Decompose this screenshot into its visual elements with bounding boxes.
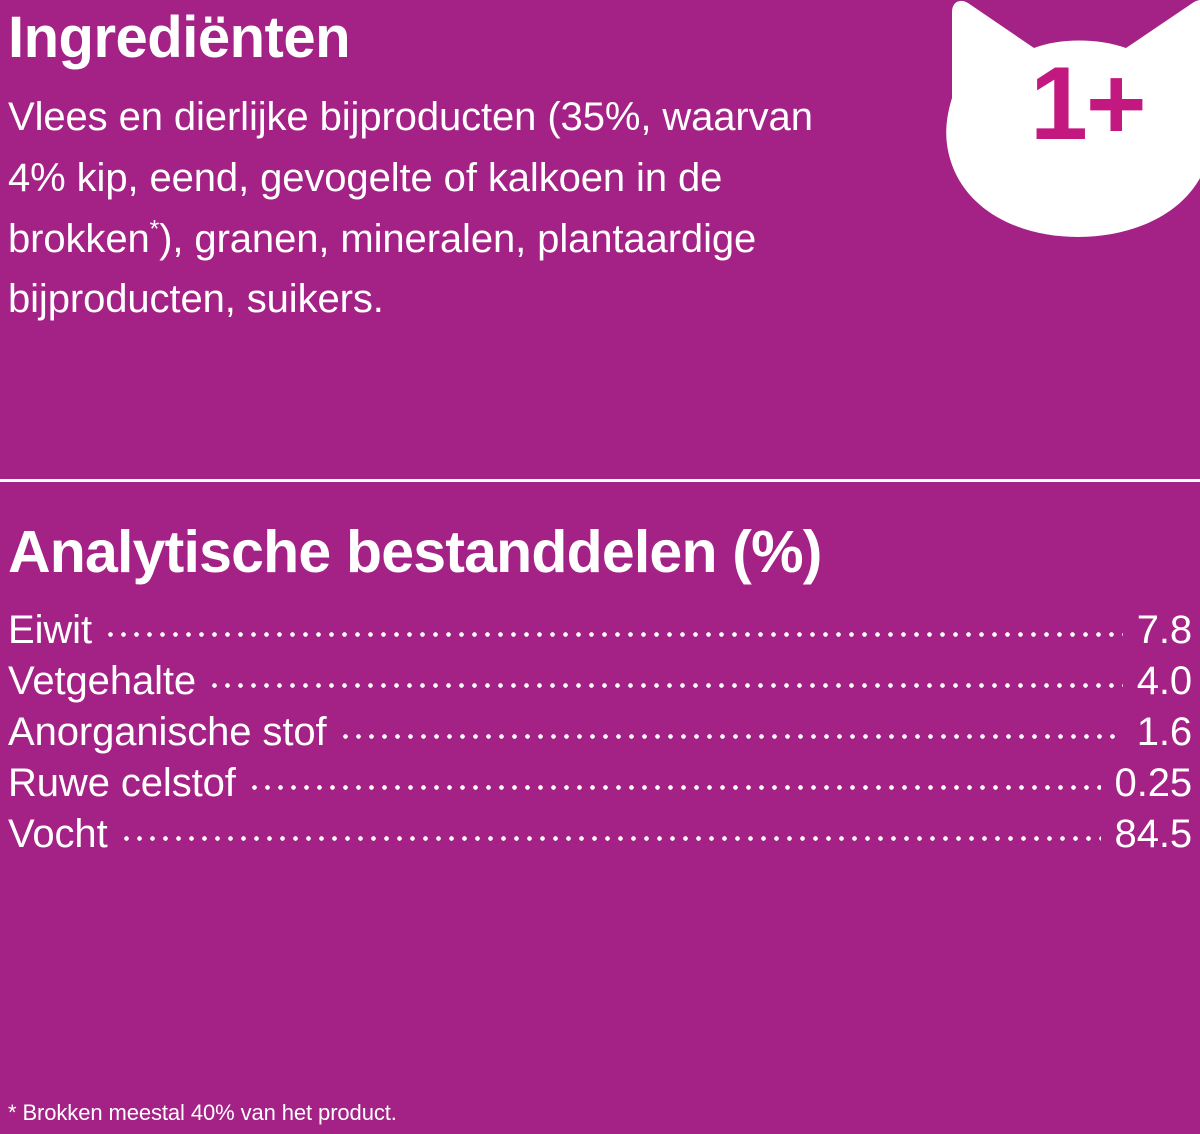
constituent-label: Anorganische stof: [8, 712, 335, 752]
constituent-value: 0.25: [1105, 763, 1192, 803]
table-row: Eiwit 7.8: [8, 603, 1192, 654]
ingredients-text: Vlees en dierlijke bijproducten (35%, wa…: [8, 87, 868, 330]
product-label-panel: 1+ Ingrediënten Vlees en dierlijke bijpr…: [0, 0, 1200, 1134]
constituent-label: Eiwit: [8, 610, 100, 650]
dot-leader: [104, 603, 1123, 643]
constituent-value: 1.6: [1127, 712, 1192, 752]
constituent-value: 7.8: [1127, 610, 1192, 650]
cat-head-icon: [922, 0, 1200, 240]
table-row: Vocht 84.5: [8, 807, 1192, 858]
ingredients-footnote-marker: *: [150, 216, 160, 243]
ingredients-section: Ingrediënten Vlees en dierlijke bijprodu…: [0, 0, 900, 330]
dot-leader: [120, 807, 1101, 847]
constituent-label: Vocht: [8, 814, 116, 854]
ingredients-title: Ingrediënten: [8, 6, 900, 71]
constituent-value: 4.0: [1127, 661, 1192, 701]
constituent-label: Vetgehalte: [8, 661, 204, 701]
analytical-constituents-section: Analytische bestanddelen (%) Eiwit 7.8 V…: [8, 520, 1192, 858]
cat-age-label: 1+: [1030, 52, 1145, 156]
constituent-value: 84.5: [1105, 814, 1192, 854]
dot-leader: [208, 654, 1123, 694]
cat-age-badge: 1+: [922, 0, 1200, 240]
table-row: Anorganische stof 1.6: [8, 705, 1192, 756]
table-row: Ruwe celstof 0.25: [8, 756, 1192, 807]
footnote-text: * Brokken meestal 40% van het product.: [8, 1099, 397, 1127]
dot-leader: [248, 756, 1101, 796]
analytical-constituents-title: Analytische bestanddelen (%): [8, 520, 1192, 585]
dot-leader: [339, 705, 1123, 745]
table-row: Vetgehalte 4.0: [8, 654, 1192, 705]
constituent-label: Ruwe celstof: [8, 763, 244, 803]
analytical-constituents-list: Eiwit 7.8 Vetgehalte 4.0 Anorganische st…: [8, 603, 1192, 858]
section-divider: [0, 479, 1200, 482]
